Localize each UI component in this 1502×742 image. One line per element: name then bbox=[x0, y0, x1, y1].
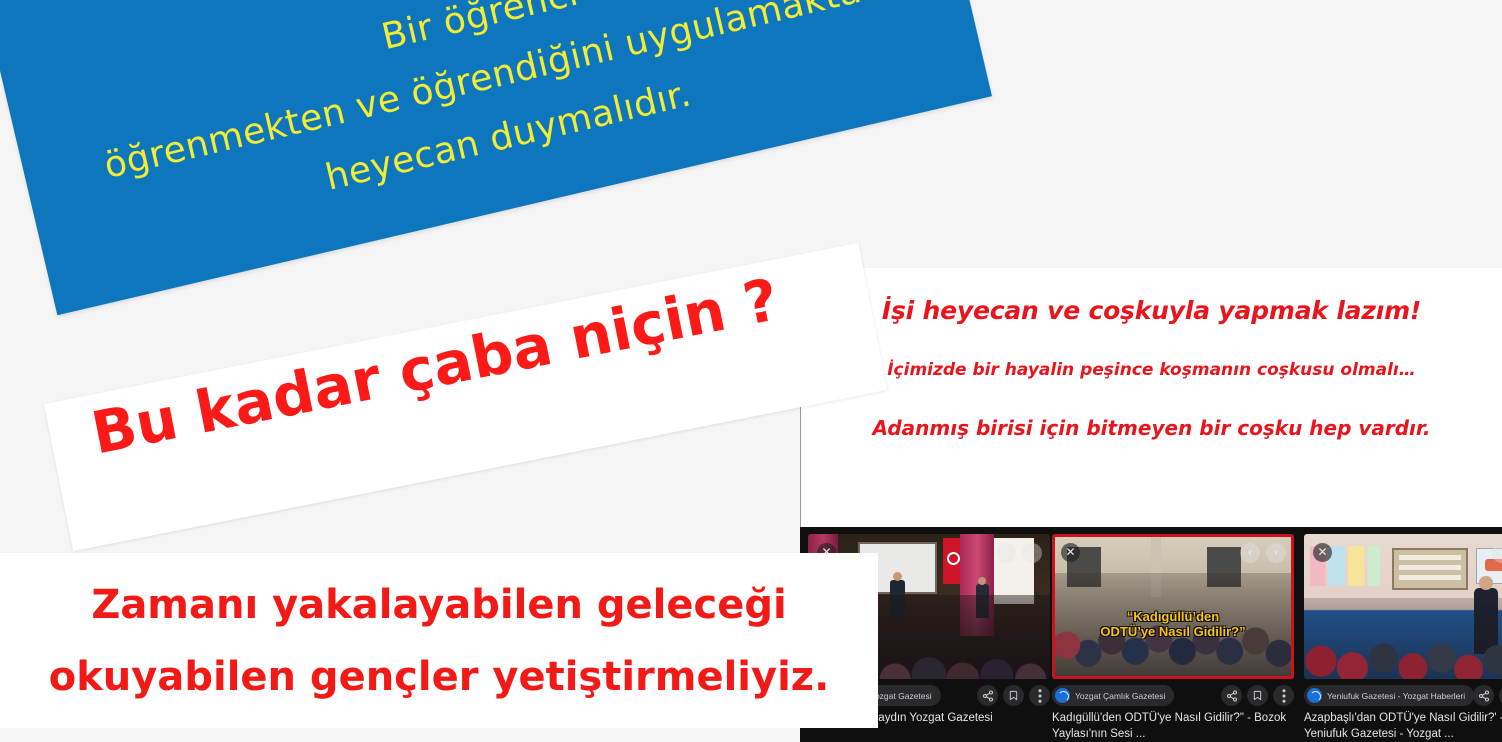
share-icon[interactable] bbox=[1221, 685, 1242, 706]
video-card-actions bbox=[1473, 685, 1502, 706]
close-icon[interactable]: ✕ bbox=[1061, 543, 1080, 562]
more-vertical-icon[interactable] bbox=[1029, 685, 1050, 706]
conclusion-text: Zamanı yakalayabilen geleceği okuyabilen… bbox=[0, 569, 878, 713]
right-slide-panel: İşi heyecan ve coşkuyla yapmak lazım! İç… bbox=[800, 268, 1502, 528]
blue-banner-text: Bir öğrenci öğrenmekten ve öğrendiğini u… bbox=[6, 0, 983, 276]
close-icon[interactable]: ✕ bbox=[1313, 543, 1332, 562]
conclusion-box: Zamanı yakalayabilen geleceği okuyabilen… bbox=[0, 553, 878, 728]
share-icon[interactable] bbox=[977, 685, 998, 706]
video-card[interactable]: ✕ ‹ › Yeniufuk Gazetesi - Yozgat Haberle… bbox=[1304, 527, 1502, 742]
video-source-name: Yeniufuk Gazetesi - Yozgat Haberleri bbox=[1327, 691, 1465, 701]
video-card-actions bbox=[1221, 685, 1294, 706]
globe-icon bbox=[1307, 688, 1322, 703]
chevron-right-icon[interactable]: › bbox=[1266, 543, 1286, 563]
conclusion-line-1: Zamanı yakalayabilen geleceği bbox=[0, 569, 878, 641]
thumbnail-caption-line-2: ODTÜ’ye Nasıl Gidilir?” bbox=[1100, 624, 1245, 639]
decorative-students bbox=[1304, 598, 1502, 679]
bookmark-icon[interactable] bbox=[1003, 685, 1024, 706]
video-card-title[interactable]: Azapbaşlı'dan ODTÜ'ye Nasıl Gidilir?' - … bbox=[1304, 711, 1502, 742]
video-card-meta: Yeniufuk Gazetesi - Yozgat Haberleri bbox=[1304, 685, 1502, 707]
conclusion-line-2: okuyabilen gençler yetiştirmeliyiz. bbox=[0, 641, 878, 713]
thumbnail-caption-line-1: “Kadıgüllü’den bbox=[1127, 609, 1219, 624]
video-thumbnail[interactable]: ✕ ‹ › bbox=[1304, 534, 1502, 679]
video-source-chip[interactable]: Yeniufuk Gazetesi - Yozgat Haberleri bbox=[1304, 685, 1474, 706]
thumbnail-image-classroom bbox=[1304, 534, 1502, 679]
share-icon[interactable] bbox=[1473, 685, 1494, 706]
more-vertical-icon[interactable] bbox=[1273, 685, 1294, 706]
screenshot-canvas: İşi heyecan ve coşkuyla yapmak lazım! İç… bbox=[0, 0, 1502, 742]
bookmark-icon[interactable] bbox=[1247, 685, 1268, 706]
right-panel-heading: İşi heyecan ve coşkuyla yapmak lazım! bbox=[801, 296, 1502, 325]
video-source-name: Yozgat Çamlık Gazetesi bbox=[1075, 691, 1165, 701]
video-source-chip[interactable]: Yozgat Çamlık Gazetesi bbox=[1052, 685, 1174, 706]
decorative-bulletin-board bbox=[1392, 548, 1468, 590]
right-panel-line-2: İçimizde bir hayalin peşince koşmanın co… bbox=[801, 360, 1502, 380]
chevron-right-icon[interactable]: › bbox=[1022, 543, 1042, 563]
video-card-actions bbox=[977, 685, 1050, 706]
thumbnail-caption: “Kadıgüllü’den ODTÜ’ye Nasıl Gidilir?” bbox=[1055, 609, 1291, 639]
video-card[interactable]: “Kadıgüllü’den ODTÜ’ye Nasıl Gidilir?” ✕… bbox=[1052, 527, 1294, 742]
question-slide-text: Bu kadar çaba niçin ? bbox=[87, 268, 784, 464]
chevron-left-icon[interactable]: ‹ bbox=[996, 543, 1016, 563]
question-slide: Bu kadar çaba niçin ? bbox=[44, 243, 887, 551]
video-card-title[interactable]: Kadıgüllü'den ODTÜ'ye Nasıl Gidilir?" - … bbox=[1052, 711, 1294, 742]
globe-icon bbox=[1055, 688, 1070, 703]
video-thumbnail[interactable]: “Kadıgüllü’den ODTÜ’ye Nasıl Gidilir?” ✕… bbox=[1052, 534, 1294, 679]
chevron-left-icon[interactable]: ‹ bbox=[1240, 543, 1260, 563]
video-results-strip: ✕ ‹ › Günaydın Yozgat Gazetesi bbox=[800, 527, 1502, 742]
video-card-meta: Yozgat Çamlık Gazetesi bbox=[1052, 685, 1294, 707]
right-panel-line-3: Adanmış birisi için bitmeyen bir coşku h… bbox=[801, 416, 1502, 440]
